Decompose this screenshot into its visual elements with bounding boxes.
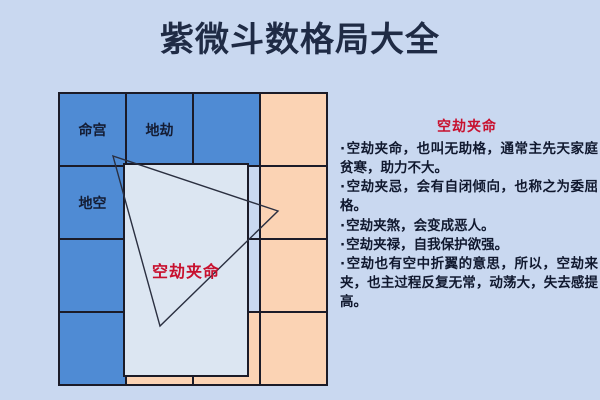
grid-cell-r0c0[interactable]: 命宫: [59, 93, 126, 166]
grid-cell-r1c3[interactable]: [260, 166, 327, 239]
list-item: 空劫夹命，也叫无助格，通常主先天家庭贫寒，助力不大。: [336, 140, 598, 178]
ziwei-chart-diagram: 命宫 地劫 地空: [58, 92, 318, 375]
page-title: 紫微斗数格局大全: [0, 22, 600, 59]
grid-cell-r0c3[interactable]: [260, 93, 327, 166]
center-pattern-label: 空劫夹命: [123, 163, 249, 377]
list-item: 空劫夹忌，会有自闭倾向，也称之为委屈格。: [336, 178, 598, 216]
grid-cell-r2c3[interactable]: [260, 239, 327, 312]
info-heading: 空劫夹命: [336, 116, 598, 136]
grid-cell-r2c0[interactable]: [59, 239, 126, 312]
list-item: 空劫也有空中折翼的意思，所以，空劫来夹，也主过程反复无常，动荡大，失去感提高。: [336, 255, 598, 312]
grid-cell-r1c0[interactable]: 地空: [59, 166, 126, 239]
list-item: 空劫夹禄，自我保护欲强。: [336, 236, 598, 255]
grid-cell-r3c3[interactable]: [260, 312, 327, 385]
grid-cell-r3c0[interactable]: [59, 312, 126, 385]
list-item: 空劫夹煞，会变成恶人。: [336, 217, 598, 236]
grid-cell-r0c2[interactable]: [193, 93, 260, 166]
grid-cell-r0c1[interactable]: 地劫: [126, 93, 193, 166]
table-row: 命宫 地劫: [59, 93, 327, 166]
info-panel: 空劫夹命 空劫夹命，也叫无助格，通常主先天家庭贫寒，助力不大。 空劫夹忌，会有自…: [336, 116, 598, 312]
